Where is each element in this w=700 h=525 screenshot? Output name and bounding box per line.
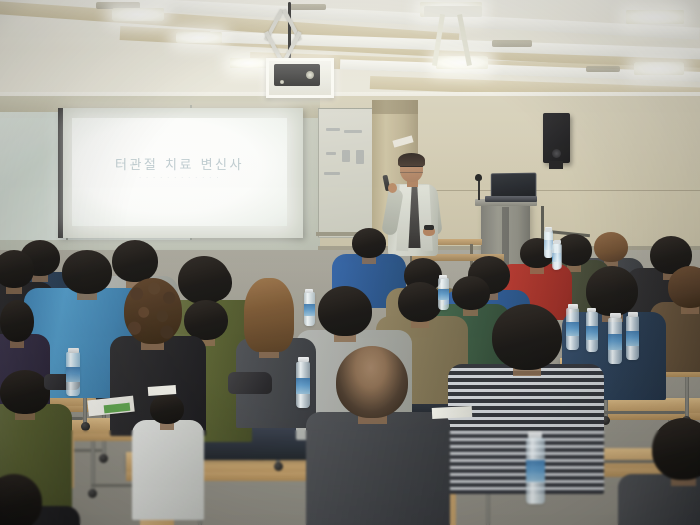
water-bottles <box>0 0 700 525</box>
bottle-row3-b-label <box>626 331 639 346</box>
bottle-far-right-label <box>586 326 598 340</box>
water-bottle <box>553 244 562 269</box>
bottle-front-center-cap <box>528 431 542 438</box>
bottle-row2-left-cap <box>68 348 79 353</box>
bottle-cap <box>545 228 552 232</box>
bottle-cap <box>554 240 561 244</box>
bottle-upper-right-label <box>438 289 449 300</box>
bottle-row3-a-cap <box>610 313 621 318</box>
water-bottle <box>544 232 553 258</box>
bottle-row2-left-label <box>66 367 80 382</box>
bottle-mid-right-cap <box>568 304 578 309</box>
lecture-hall-photo: 터관절 치료 변신사 · · · · · · · · · · · · <box>0 0 700 525</box>
bottle-mid-right-label <box>566 322 579 336</box>
bottle-far-right-cap <box>587 308 596 312</box>
bottle-upper-mid-label <box>304 304 315 316</box>
bottle-row3-b-cap <box>628 312 638 317</box>
bottle-front-center-label <box>526 460 545 482</box>
bottle-center-label <box>296 378 310 394</box>
bottle-row3-a-label <box>608 334 622 350</box>
bottle-upper-right-cap <box>439 275 447 279</box>
bottle-center-cap <box>298 357 309 362</box>
bottle-upper-mid-cap <box>305 289 313 293</box>
